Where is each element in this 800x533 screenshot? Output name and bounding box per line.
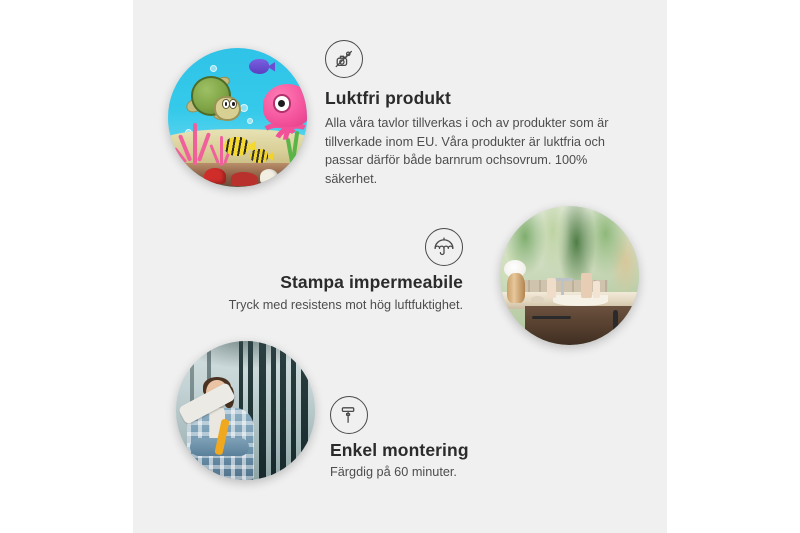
forest-scene (176, 341, 315, 480)
shell-icon (260, 169, 278, 184)
faucet-icon (561, 278, 564, 295)
bottle-icon (581, 273, 592, 298)
umbrella-icon (425, 228, 463, 266)
feature-description: Alla våra tavlor tillverkas i och av pro… (325, 114, 625, 189)
octopus-icon (254, 84, 307, 154)
fish-icon (250, 149, 268, 163)
shell-icon (204, 168, 226, 185)
screenshot-root: Luktfri produkt Alla våra tavlor tillver… (0, 0, 800, 533)
feature-title: Enkel montering (330, 440, 610, 461)
bottle-icon (593, 281, 600, 298)
coral-icon (179, 123, 212, 165)
feature-description: Färgdig på 60 minuter. (330, 463, 610, 482)
bottle-icon (547, 278, 555, 297)
product-photo-bathroom[interactable] (500, 206, 639, 345)
tree-trunk (291, 341, 296, 480)
no-odour-spray-bottle-icon (325, 40, 363, 78)
tree-trunk (259, 341, 266, 480)
wooden-vanity (525, 306, 639, 345)
bathroom-scene (500, 206, 639, 345)
paint-roller-icon (330, 396, 368, 434)
bubble-icon (210, 65, 217, 72)
feature-assembly: Enkel montering Färgdig på 60 minuter. (330, 396, 610, 482)
tree-trunk (301, 341, 308, 480)
feature-description: Tryck med resistens mot hög luftfuktighe… (193, 296, 463, 315)
tree-trunk (271, 341, 276, 480)
aquarium-illustration (168, 48, 307, 187)
product-photo-aquarium[interactable] (168, 48, 307, 187)
feature-odourless: Luktfri produkt Alla våra tavlor tillver… (325, 40, 625, 189)
feature-title: Luktfri produkt (325, 88, 625, 109)
sea-turtle-icon (186, 76, 242, 125)
feature-title: Stampa impermeabile (193, 272, 463, 293)
fish-icon (224, 137, 249, 156)
vase-icon (507, 273, 525, 304)
tree-trunk (280, 341, 286, 480)
feature-waterproof: Stampa impermeabile Tryck med resistens … (193, 228, 463, 315)
shell-icon (231, 172, 259, 186)
fish-icon (249, 59, 270, 74)
feature-panel: Luktfri produkt Alla våra tavlor tillver… (133, 0, 667, 533)
product-photo-forest[interactable] (176, 341, 315, 480)
